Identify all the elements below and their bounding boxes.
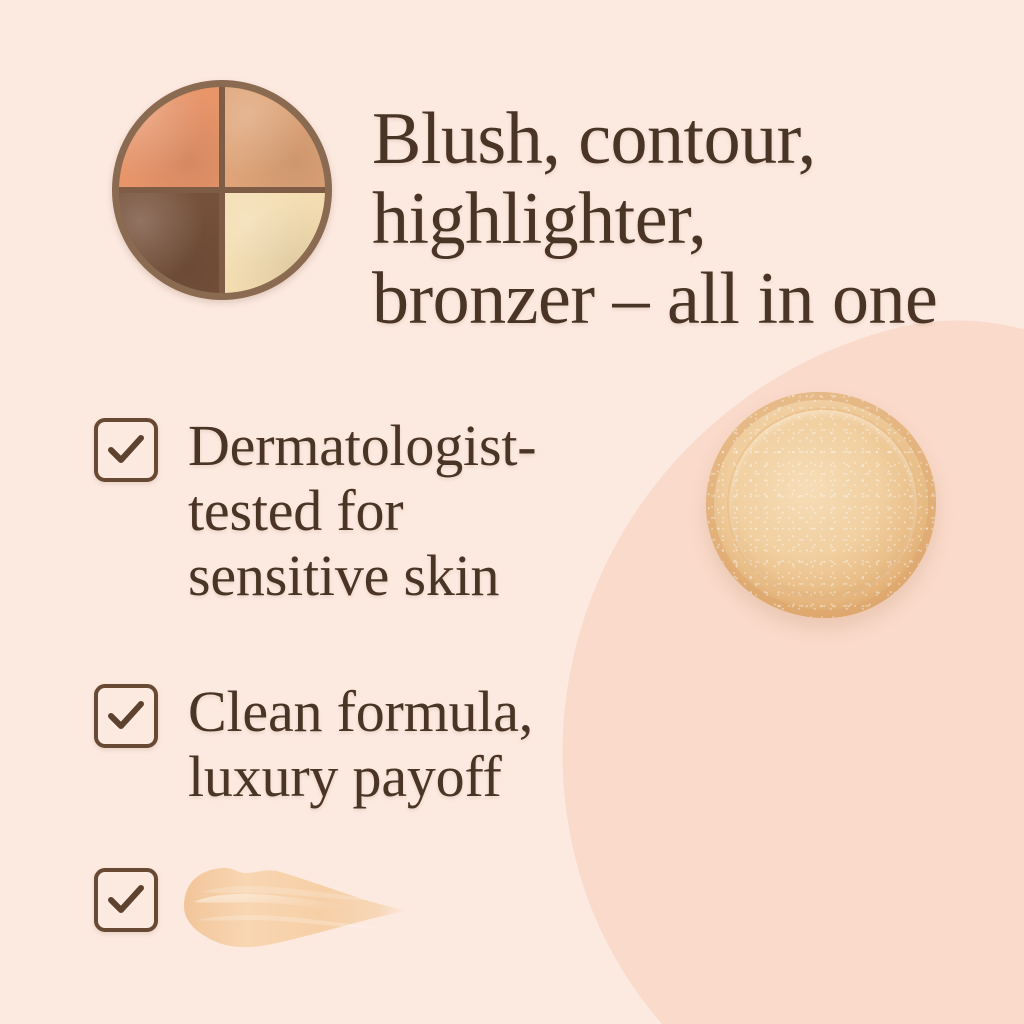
- smear-shape: [176, 862, 408, 952]
- benefit-1-line-1: Dermatologist-: [188, 414, 536, 479]
- palette-quadrant-contour: [119, 193, 219, 293]
- headline: Blush, contour, highlighter, bronzer – a…: [372, 100, 992, 340]
- checkbox-3[interactable]: [94, 868, 158, 932]
- promo-graphic-canvas: Blush, contour, highlighter, bronzer – a…: [0, 0, 1024, 1024]
- palette-quadrant-bronzer: [225, 87, 325, 187]
- check-icon: [104, 428, 148, 472]
- palette-rim: [112, 80, 332, 300]
- benefit-1-line-2: tested for: [188, 479, 536, 544]
- headline-line-1: Blush, contour,: [372, 100, 992, 180]
- benefit-2-line-1: Clean formula,: [188, 680, 533, 745]
- benefit-1-line-3: sensitive skin: [188, 544, 536, 609]
- benefit-2-line-2: luxury payoff: [188, 745, 533, 810]
- headline-line-3: bronzer – all in one: [372, 260, 992, 340]
- palette-quadrant-blush: [119, 87, 219, 187]
- benefit-text-2: Clean formula, luxury payoff: [188, 678, 533, 810]
- check-icon: [104, 694, 148, 738]
- checkbox-1[interactable]: [94, 418, 158, 482]
- headline-line-2: highlighter,: [372, 180, 992, 260]
- palette-quadrant-highlighter: [225, 193, 325, 293]
- benefit-item-1: Dermatologist- tested for sensitive skin: [94, 412, 714, 609]
- benefit-text-1: Dermatologist- tested for sensitive skin: [188, 412, 536, 609]
- check-icon: [104, 878, 148, 922]
- palette-inner: [119, 87, 325, 293]
- cream-foundation-smear-swatch: [176, 862, 408, 952]
- benefit-item-2: Clean formula, luxury payoff: [94, 678, 714, 810]
- checkbox-2[interactable]: [94, 684, 158, 748]
- powder-pan-swatch: [706, 392, 936, 618]
- four-pan-makeup-palette-icon: [112, 80, 332, 300]
